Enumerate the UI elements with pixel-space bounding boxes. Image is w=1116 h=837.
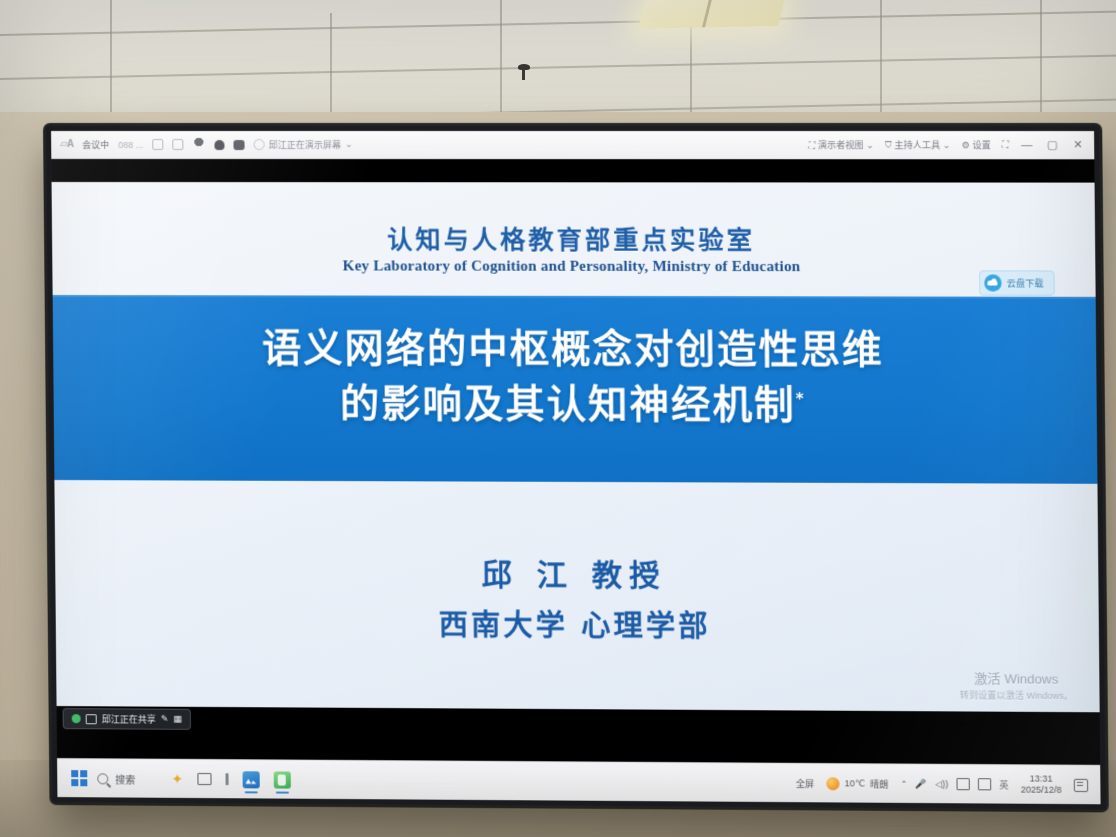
slide-title-line1: 语义网络的中枢概念对创造性思维 [53,321,1097,379]
weather-condition: 晴朗 [870,777,888,790]
widgets-icon[interactable] [225,773,228,785]
taskbar-clock[interactable]: 13:31 2025/12/8 [1021,773,1062,796]
presentation-slide: 认知与人格教育部重点实验室 Key Laboratory of Cognitio… [52,182,1100,712]
shield-icon: ⛉ [885,140,892,150]
presenter-view-label: 演示者视图 [818,140,864,150]
watermark-line1: 激活 Windows [959,668,1072,688]
screen-share-icon [253,139,264,150]
start-button[interactable] [71,770,87,786]
chevron-up-icon[interactable]: ⌃ [901,779,908,788]
sun-icon [826,777,839,790]
wall-display: ▱A 会议中 088 ... 邱江正在演示屏幕 ⌄ ⛶ 演示者视图 [46,126,1106,809]
wechat-app-icon[interactable] [273,771,290,788]
presenter-name: 邱 江 教授 [55,548,1099,597]
minimize-button[interactable]: — [1020,139,1034,151]
title-superscript: * [796,390,806,408]
cloud-download-button[interactable]: 云盘下载 [979,270,1055,295]
chevron-down-icon: ⌄ [943,140,951,150]
cloud-download-label: 云盘下载 [1007,276,1044,289]
close-button[interactable]: ✕ [1071,138,1085,151]
copy-icon[interactable] [152,139,163,150]
fullscreen-icon[interactable]: ⛶ [1002,139,1009,150]
sharing-notice-label: 邱江正在演示屏幕 [269,138,342,151]
pen-icon[interactable]: ✎ [161,714,169,725]
battery-icon[interactable] [978,778,991,790]
volume-icon[interactable]: ◁)) [935,778,948,789]
meeting-window-title: 会议中 [82,138,109,151]
meeting-id: 088 ... [118,140,143,150]
lab-name-cn: 认知与人格教育部重点实验室 [52,220,1095,257]
windows-activation-watermark: 激活 Windows 转到设置以激活 Windows。 [959,668,1073,702]
notification-center-icon[interactable] [1074,778,1088,791]
system-tray[interactable]: ⌃ 🎤 ◁)) 英 [901,777,1009,791]
sprinkler-head [518,64,530,70]
screen-icon [86,714,97,724]
slide-title-line2-wrap: 的影响及其认知神经机制* [53,376,1097,435]
presenter-affiliation: 西南大学 心理学部 [56,600,1099,648]
presenter-view-button[interactable]: ⛶ 演示者视图 ⌄ [809,138,874,151]
network-icon[interactable] [956,778,969,790]
clock-time: 13:31 [1021,773,1062,785]
title-band: 语义网络的中枢概念对创造性思维 的影响及其认知神经机制* [53,295,1098,484]
copilot-icon[interactable]: ✦ [171,770,183,787]
chevron-down-icon: ⌄ [866,140,874,150]
microphone-tray-icon[interactable]: 🎤 [916,778,928,789]
gear-icon: ⚙ [962,140,970,150]
meeting-window-titlebar: ▱A 会议中 088 ... 邱江正在演示屏幕 ⌄ ⛶ 演示者视图 [51,131,1094,159]
windows-desktop: ▱A 会议中 088 ... 邱江正在演示屏幕 ⌄ ⛶ 演示者视图 [51,131,1101,804]
slide-title: 语义网络的中枢概念对创造性思维 的影响及其认知神经机制* [53,321,1097,435]
task-view-icon[interactable] [197,773,211,785]
search-box[interactable]: 搜索 [97,771,135,786]
recording-dot-icon [72,714,81,723]
settings-button[interactable]: ⚙ 设置 [962,138,991,151]
ime-icon[interactable]: 英 [999,778,1008,791]
expand-icon[interactable] [172,139,183,150]
speaker-icon[interactable] [214,140,224,150]
ceiling-light [638,0,792,29]
clock-date: 2025/12/8 [1021,785,1062,797]
maximize-button[interactable]: ▢ [1045,138,1059,151]
cloud-icon [984,274,1001,291]
record-icon[interactable] [233,140,244,150]
windows-taskbar: 搜索 ✦ 全屏 10℃ 晴朗 [57,758,1101,804]
weather-temp: 10℃ [845,778,866,789]
watermark-line2: 转到设置以激活 Windows。 [960,688,1073,702]
more-icon[interactable]: ▦ [173,714,182,725]
lab-name-en: Key Laboratory of Cognition and Personal… [52,258,1095,277]
slide-title-line2: 的影响及其认知神经机制 [340,382,796,429]
search-placeholder: 搜索 [115,771,135,786]
meeting-app-icon[interactable] [242,771,259,788]
search-icon [97,773,108,784]
sharing-floating-toolbar[interactable]: 邱江正在共享 ✎ ▦ [63,708,191,730]
sharing-notice: 邱江正在演示屏幕 ⌄ [253,138,352,151]
meeting-brand-logo: ▱A [60,139,73,150]
presenter-view-icon: ⛶ [809,140,816,150]
sharing-toolbar-label: 邱江正在共享 [102,712,156,725]
tray-text: 全屏 [796,776,814,789]
host-tools-button[interactable]: ⛉ 主持人工具 ⌄ [885,138,951,151]
participants-icon[interactable] [192,138,205,151]
shared-screen-stage: 正在发言 邱江 认知与人格教育部重点实验室 Key Laboratory of … [51,159,1100,766]
settings-label: 设置 [972,140,990,150]
photographed-room: ▱A 会议中 088 ... 邱江正在演示屏幕 ⌄ ⛶ 演示者视图 [0,0,1116,837]
weather-widget[interactable]: 10℃ 晴朗 [826,777,888,791]
chevron-down-icon[interactable]: ⌄ [345,139,353,150]
host-tools-label: 主持人工具 [894,140,940,150]
